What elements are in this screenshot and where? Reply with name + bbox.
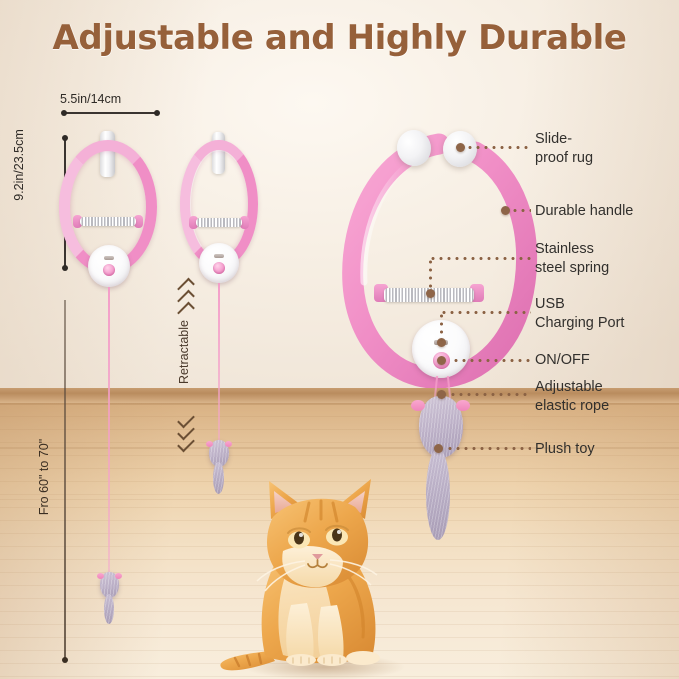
leader-line-slide-proof-rug [466, 146, 528, 149]
callout-stainless-spring: Stainless steel spring [535, 240, 609, 277]
cat-illustration [213, 455, 428, 679]
width-dimension-label: 5.5in/14cm [60, 92, 121, 106]
height-dimension-label: 9.2in/23.5cm [12, 110, 26, 220]
leader-vert-stainless-spring [429, 258, 432, 292]
callout-label-slide-proof-rug: Slide- proof rug [535, 131, 593, 166]
leader-dot-durable-handle [501, 206, 510, 215]
leader-line-plush-toy [446, 447, 531, 450]
callout-plush-toy: Plush toy [535, 440, 595, 459]
ring1-usb-port [104, 256, 114, 260]
callout-label-usb-port: USB Charging Port [535, 296, 624, 331]
width-dimension-line [64, 112, 157, 114]
callout-label-plush-toy: Plush toy [535, 441, 595, 457]
ring2-onoff-button [213, 262, 225, 274]
drop-length-line [64, 300, 66, 660]
callout-label-elastic-rope: Adjustable elastic rope [535, 379, 609, 414]
leader-line-on-off [452, 359, 531, 362]
leader-dot-plush-toy [434, 444, 443, 453]
callout-slide-proof-rug: Slide- proof rug [535, 130, 593, 167]
callout-on-off: ON/OFF [535, 351, 590, 370]
callout-usb-port: USB Charging Port [535, 295, 624, 332]
page-title: Adjustable and Highly Durable [0, 18, 679, 58]
ring1-spring [80, 217, 136, 226]
product-infographic: Adjustable and Highly Durable 5.5in/14cm… [0, 0, 679, 679]
ring1-elastic-rope [108, 287, 110, 575]
leader-line-stainless-spring [429, 257, 531, 260]
callout-label-durable-handle: Durable handle [535, 203, 633, 219]
ring2-usb-port [214, 254, 224, 258]
leader-vert-usb-port [440, 312, 443, 342]
callout-elastic-rope: Adjustable elastic rope [535, 378, 609, 415]
leader-dot-on-off [437, 356, 446, 365]
leader-line-elastic-rope [449, 393, 531, 396]
ring1-onoff-button [103, 264, 115, 276]
chevron-down-icon [175, 415, 197, 451]
drop-length-label: Fro 60" to 70" [37, 417, 51, 537]
leader-dot-slide-proof-rug [456, 143, 465, 152]
leader-line-durable-handle [511, 209, 531, 212]
callout-label-stainless-spring: Stainless steel spring [535, 241, 609, 276]
leader-line-usb-port [440, 311, 531, 314]
ring2-elastic-rope [218, 283, 220, 443]
leader-dot-elastic-rope [437, 390, 446, 399]
callout-durable-handle: Durable handle [535, 202, 633, 221]
ring2-spring [196, 218, 242, 227]
callout-label-on-off: ON/OFF [535, 352, 590, 368]
retractable-label: Retractable [177, 297, 191, 407]
